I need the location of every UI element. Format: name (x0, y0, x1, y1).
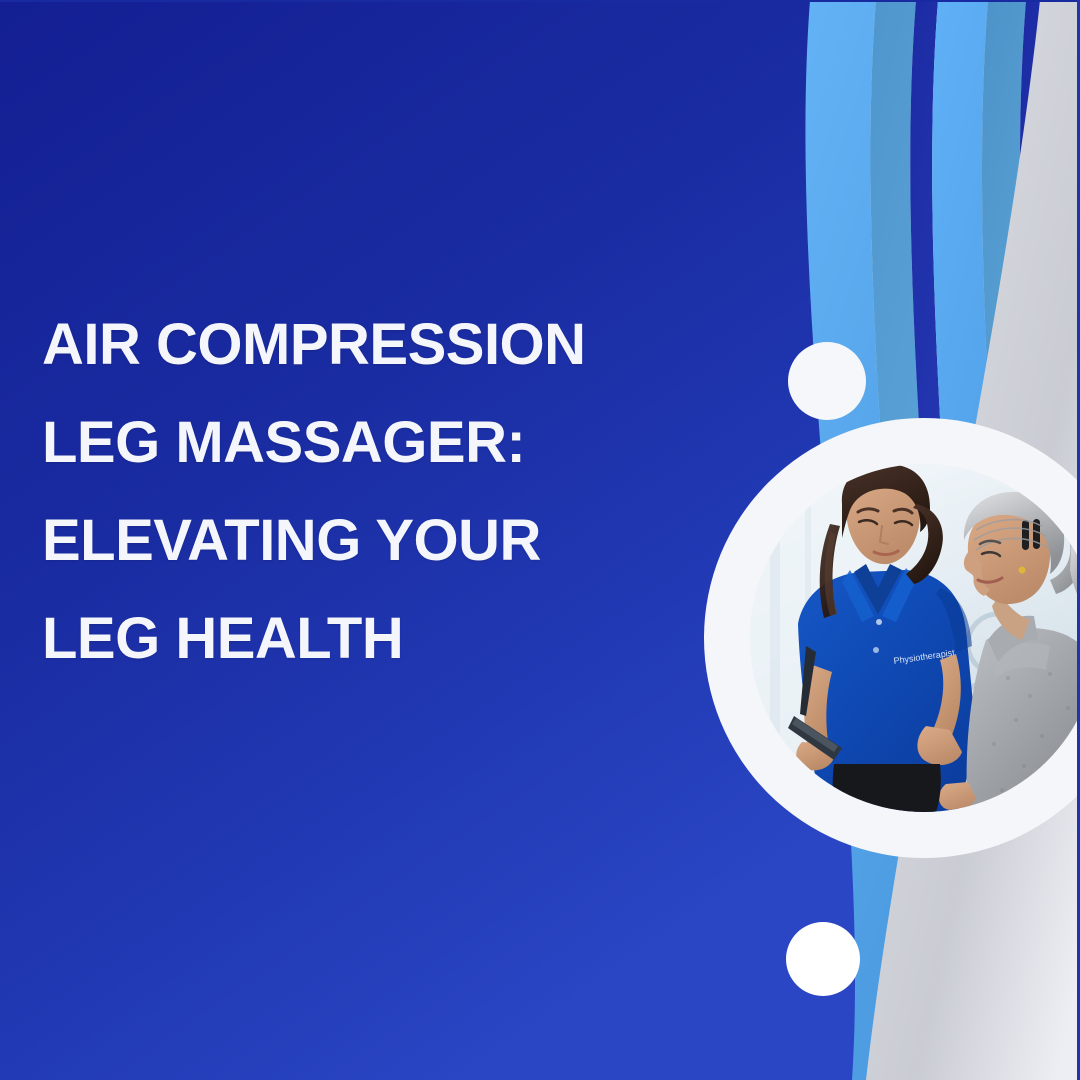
accent-dot-bottom (786, 922, 860, 996)
title-line-2: LEG MASSAGER: (42, 394, 702, 492)
physiotherapist-photo: Physiotherapist (750, 464, 1080, 812)
photo-circle: Physiotherapist (750, 464, 1080, 812)
title-line-3: ELEVATING YOUR (42, 492, 702, 590)
top-edge-border (0, 0, 1080, 2)
accent-dot-top (788, 342, 866, 420)
page-title: AIR COMPRESSION LEG MASSAGER: ELEVATING … (42, 296, 702, 688)
title-line-1: AIR COMPRESSION (42, 296, 702, 394)
banner-canvas: Physiotherapist (0, 0, 1080, 1080)
title-line-4: LEG HEALTH (42, 590, 702, 688)
